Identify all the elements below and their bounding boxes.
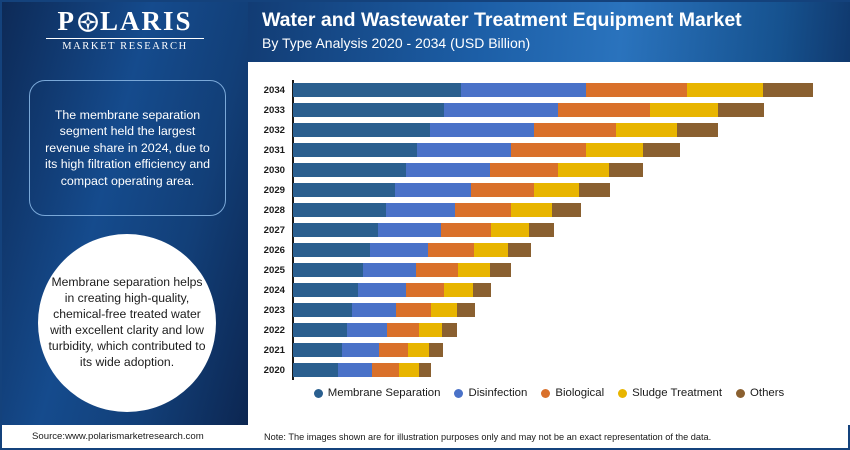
stacked-bar-chart: 2034203320322031203020292028202720262025… bbox=[248, 80, 850, 380]
bar-row: 2022 bbox=[248, 320, 850, 340]
brand-name-part1: P bbox=[57, 8, 76, 35]
bar-segment-membrane-separation[interactable] bbox=[293, 323, 347, 337]
bar-segment-sludge-treatment[interactable] bbox=[419, 323, 442, 337]
bar-segment-membrane-separation[interactable] bbox=[293, 143, 417, 157]
bar-segment-membrane-separation[interactable] bbox=[293, 203, 386, 217]
bar-segment-sludge-treatment[interactable] bbox=[687, 83, 762, 97]
bar-segment-sludge-treatment[interactable] bbox=[534, 183, 580, 197]
brand-name-part2: LARIS bbox=[100, 8, 193, 35]
bar-segment-sludge-treatment[interactable] bbox=[408, 343, 429, 357]
year-axis-label: 2028 bbox=[248, 205, 290, 216]
bar-segment-others[interactable] bbox=[429, 343, 443, 357]
bar-segment-others[interactable] bbox=[609, 163, 643, 177]
bar-segment-sludge-treatment[interactable] bbox=[458, 263, 490, 277]
bar-segment-others[interactable] bbox=[508, 243, 531, 257]
bar-segment-biological[interactable] bbox=[534, 123, 616, 137]
bar-segment-membrane-separation[interactable] bbox=[293, 103, 444, 117]
bar-segment-membrane-separation[interactable] bbox=[293, 123, 430, 137]
bar-segment-membrane-separation[interactable] bbox=[293, 263, 363, 277]
bar-segment-disinfection[interactable] bbox=[352, 303, 397, 317]
compass-star-icon bbox=[77, 11, 99, 33]
legend-dot-icon bbox=[541, 389, 550, 398]
legend-dot-icon bbox=[618, 389, 627, 398]
bar-segment-biological[interactable] bbox=[471, 183, 533, 197]
page-subtitle: By Type Analysis 2020 - 2034 (USD Billio… bbox=[262, 34, 850, 54]
bar-segment-biological[interactable] bbox=[416, 263, 458, 277]
year-axis-label: 2023 bbox=[248, 305, 290, 316]
year-axis-label: 2026 bbox=[248, 245, 290, 256]
footer-note: Note: The images shown are for illustrat… bbox=[264, 432, 711, 442]
bar-segment-biological[interactable] bbox=[441, 223, 491, 237]
year-axis-label: 2034 bbox=[248, 85, 290, 96]
bar-row: 2032 bbox=[248, 120, 850, 140]
bar-segment-sludge-treatment[interactable] bbox=[444, 283, 472, 297]
bar-segment-biological[interactable] bbox=[511, 143, 586, 157]
stacked-bar[interactable] bbox=[293, 143, 680, 157]
year-axis-label: 2025 bbox=[248, 265, 290, 276]
bar-row: 2031 bbox=[248, 140, 850, 160]
bar-segment-sludge-treatment[interactable] bbox=[650, 103, 718, 117]
circle-note-text: Membrane separation helps in creating hi… bbox=[46, 275, 208, 370]
chart-legend: Membrane SeparationDisinfectionBiologica… bbox=[248, 387, 850, 399]
bar-segment-disinfection[interactable] bbox=[386, 203, 455, 217]
legend-item-others[interactable]: Others bbox=[736, 387, 784, 399]
legend-label: Biological bbox=[555, 387, 604, 399]
stacked-bar[interactable] bbox=[293, 123, 718, 137]
stacked-bar[interactable] bbox=[293, 223, 554, 237]
chart-header: Water and Wastewater Treatment Equipment… bbox=[248, 2, 850, 62]
bar-segment-biological[interactable] bbox=[379, 343, 408, 357]
bar-segment-sludge-treatment[interactable] bbox=[399, 363, 419, 377]
bar-row: 2033 bbox=[248, 100, 850, 120]
bar-row: 2034 bbox=[248, 80, 850, 100]
bar-segment-membrane-separation[interactable] bbox=[293, 343, 342, 357]
bar-row: 2029 bbox=[248, 180, 850, 200]
year-axis-label: 2030 bbox=[248, 165, 290, 176]
bar-segment-sludge-treatment[interactable] bbox=[431, 303, 457, 317]
legend-item-biological[interactable]: Biological bbox=[541, 387, 604, 399]
bar-segment-others[interactable] bbox=[677, 123, 718, 137]
bar-segment-membrane-separation[interactable] bbox=[293, 283, 358, 297]
year-axis-label: 2033 bbox=[248, 105, 290, 116]
stacked-bar[interactable] bbox=[293, 203, 581, 217]
bar-segment-biological[interactable] bbox=[387, 323, 419, 337]
bar-segment-sludge-treatment[interactable] bbox=[474, 243, 508, 257]
year-axis-label: 2031 bbox=[248, 145, 290, 156]
brand-logo: P LARIS MARKET RESEARCH bbox=[2, 8, 248, 52]
stacked-bar[interactable] bbox=[293, 323, 457, 337]
bar-segment-others[interactable] bbox=[419, 363, 432, 377]
legend-label: Disinfection bbox=[468, 387, 527, 399]
bar-segment-biological[interactable] bbox=[558, 103, 650, 117]
brand-divider bbox=[46, 38, 204, 39]
bar-segment-sludge-treatment[interactable] bbox=[491, 223, 529, 237]
bar-row: 2023 bbox=[248, 300, 850, 320]
page-title: Water and Wastewater Treatment Equipment… bbox=[262, 8, 850, 32]
bar-segment-sludge-treatment[interactable] bbox=[511, 203, 552, 217]
bar-segment-disinfection[interactable] bbox=[406, 163, 491, 177]
bar-segment-biological[interactable] bbox=[396, 303, 431, 317]
bar-row: 2025 bbox=[248, 260, 850, 280]
bar-segment-others[interactable] bbox=[490, 263, 511, 277]
bar-segment-sludge-treatment[interactable] bbox=[558, 163, 608, 177]
bar-segment-biological[interactable] bbox=[406, 283, 445, 297]
footer-bar: Source:www.polarismarketresearch.com Not… bbox=[2, 425, 848, 448]
bar-segment-others[interactable] bbox=[552, 203, 580, 217]
bar-segment-membrane-separation[interactable] bbox=[293, 163, 406, 177]
year-axis-label: 2027 bbox=[248, 225, 290, 236]
brand-tagline: MARKET RESEARCH bbox=[2, 41, 248, 52]
bar-segment-others[interactable] bbox=[643, 143, 681, 157]
legend-item-sludge-treatment[interactable]: Sludge Treatment bbox=[618, 387, 722, 399]
bar-segment-disinfection[interactable] bbox=[370, 243, 428, 257]
bar-segment-disinfection[interactable] bbox=[378, 223, 441, 237]
legend-label: Membrane Separation bbox=[328, 387, 441, 399]
stacked-bar[interactable] bbox=[293, 83, 813, 97]
legend-label: Sludge Treatment bbox=[632, 387, 722, 399]
bar-row: 2020 bbox=[248, 360, 850, 380]
bar-segment-others[interactable] bbox=[763, 83, 813, 97]
stacked-bar[interactable] bbox=[293, 363, 431, 377]
legend-item-membrane-separation[interactable]: Membrane Separation bbox=[314, 387, 441, 399]
bar-segment-biological[interactable] bbox=[455, 203, 511, 217]
bar-segment-others[interactable] bbox=[718, 103, 764, 117]
bar-row: 2028 bbox=[248, 200, 850, 220]
stacked-bar[interactable] bbox=[293, 183, 610, 197]
bar-row: 2024 bbox=[248, 280, 850, 300]
chart-container: 2034203320322031203020292028202720262025… bbox=[248, 62, 850, 425]
bar-segment-biological[interactable] bbox=[372, 363, 399, 377]
year-axis-label: 2022 bbox=[248, 325, 290, 336]
footer-source: Source:www.polarismarketresearch.com bbox=[32, 431, 204, 442]
bar-segment-others[interactable] bbox=[529, 223, 554, 237]
bar-segment-biological[interactable] bbox=[586, 83, 687, 97]
bar-segment-disinfection[interactable] bbox=[444, 103, 558, 117]
bar-segment-biological[interactable] bbox=[490, 163, 558, 177]
circle-note-box: Membrane separation helps in creating hi… bbox=[38, 234, 216, 412]
bar-segment-disinfection[interactable] bbox=[430, 123, 533, 137]
stacked-bar[interactable] bbox=[293, 243, 531, 257]
bar-segment-membrane-separation[interactable] bbox=[293, 363, 338, 377]
sidebar-panel: P LARIS MARKET RESEARCH The membrane sep… bbox=[2, 2, 248, 425]
bar-segment-membrane-separation[interactable] bbox=[293, 83, 461, 97]
bar-segment-disinfection[interactable] bbox=[347, 323, 387, 337]
bar-row: 2026 bbox=[248, 240, 850, 260]
bar-segment-membrane-separation[interactable] bbox=[293, 223, 378, 237]
bar-segment-disinfection[interactable] bbox=[461, 83, 587, 97]
callout-text: The membrane separation segment held the… bbox=[39, 107, 216, 189]
callout-box: The membrane separation segment held the… bbox=[29, 80, 226, 216]
bar-segment-others[interactable] bbox=[457, 303, 475, 317]
stacked-bar[interactable] bbox=[293, 343, 443, 357]
bar-segment-others[interactable] bbox=[442, 323, 457, 337]
bar-row: 2030 bbox=[248, 160, 850, 180]
year-axis-label: 2032 bbox=[248, 125, 290, 136]
bar-segment-sludge-treatment[interactable] bbox=[616, 123, 677, 137]
infographic-frame: P LARIS MARKET RESEARCH The membrane sep… bbox=[0, 0, 850, 450]
year-axis-label: 2020 bbox=[248, 365, 290, 376]
bar-segment-disinfection[interactable] bbox=[342, 343, 378, 357]
stacked-bar[interactable] bbox=[293, 283, 491, 297]
legend-dot-icon bbox=[454, 389, 463, 398]
bar-segment-disinfection[interactable] bbox=[363, 263, 416, 277]
legend-dot-icon bbox=[736, 389, 745, 398]
legend-label: Others bbox=[750, 387, 784, 399]
bar-segment-disinfection[interactable] bbox=[358, 283, 406, 297]
bar-segment-others[interactable] bbox=[473, 283, 492, 297]
bar-segment-membrane-separation[interactable] bbox=[293, 303, 352, 317]
bar-segment-biological[interactable] bbox=[428, 243, 474, 257]
bar-segment-membrane-separation[interactable] bbox=[293, 243, 370, 257]
bar-segment-disinfection[interactable] bbox=[395, 183, 471, 197]
stacked-bar[interactable] bbox=[293, 263, 511, 277]
bar-segment-disinfection[interactable] bbox=[417, 143, 511, 157]
year-axis-label: 2021 bbox=[248, 345, 290, 356]
brand-wordmark: P LARIS bbox=[57, 8, 192, 35]
bar-segment-membrane-separation[interactable] bbox=[293, 183, 395, 197]
stacked-bar[interactable] bbox=[293, 163, 643, 177]
stacked-bar[interactable] bbox=[293, 303, 475, 317]
legend-dot-icon bbox=[314, 389, 323, 398]
bar-segment-sludge-treatment[interactable] bbox=[586, 143, 642, 157]
bar-segment-disinfection[interactable] bbox=[338, 363, 372, 377]
legend-item-disinfection[interactable]: Disinfection bbox=[454, 387, 527, 399]
bar-row: 2021 bbox=[248, 340, 850, 360]
stacked-bar[interactable] bbox=[293, 103, 764, 117]
bar-segment-others[interactable] bbox=[579, 183, 610, 197]
year-axis-label: 2024 bbox=[248, 285, 290, 296]
bar-row: 2027 bbox=[248, 220, 850, 240]
year-axis-label: 2029 bbox=[248, 185, 290, 196]
